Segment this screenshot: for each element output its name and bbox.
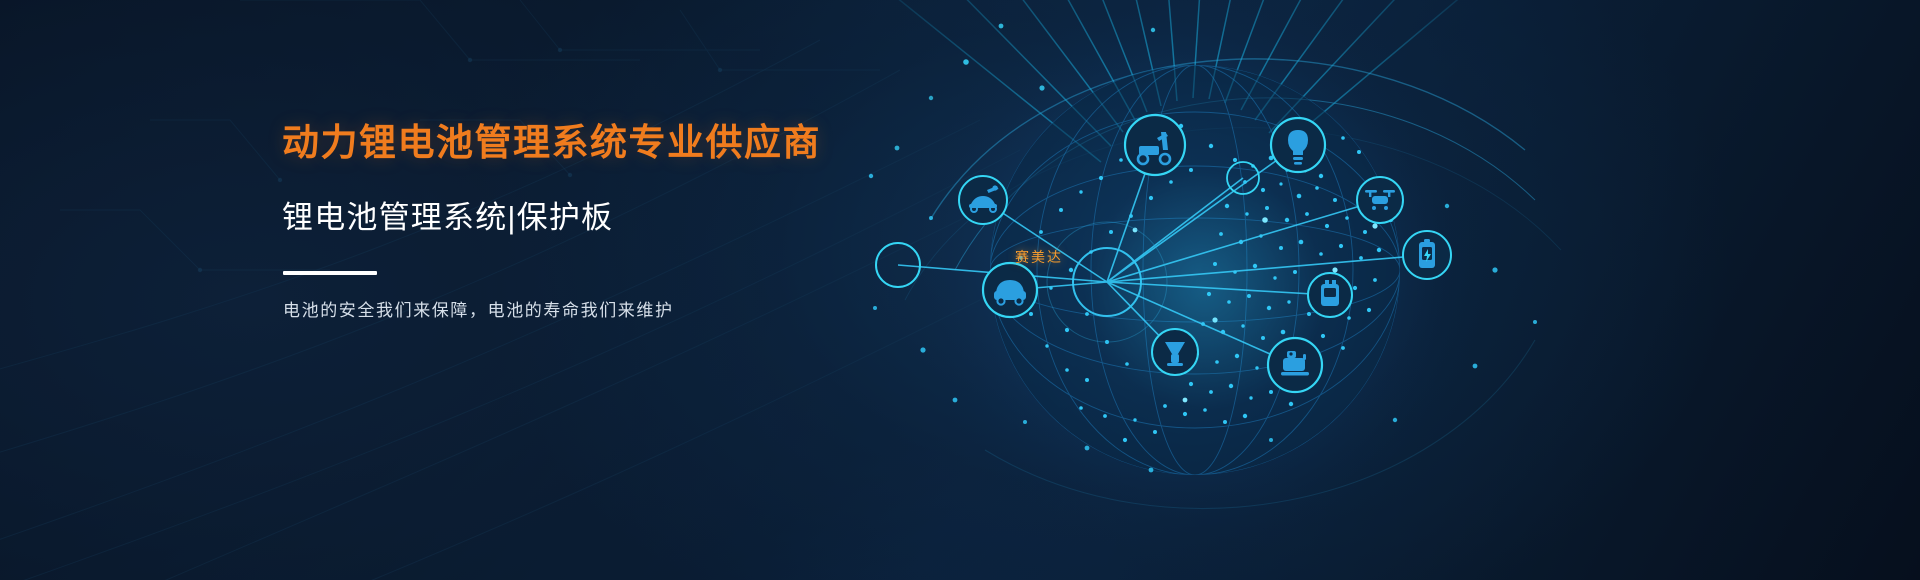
powerbank-node [1308,273,1352,317]
tagline: 电池的安全我们来保障，电池的寿命我们来维护 [283,299,902,323]
scooter-node [1125,115,1185,175]
subtitle: 锂电池管理系统|保护板 [282,201,902,235]
scanner-node [1152,329,1198,375]
divider-rule [283,271,377,275]
hero-copy: 动力锂电池管理系统专业供应商 锂电池管理系统|保护板 电池的安全我们来保障，电池… [282,122,902,322]
battery-icon [1419,239,1435,268]
bulb-node [1271,118,1325,172]
drone-node [1357,177,1403,223]
robot-node [1268,338,1322,392]
hero-banner: 赛美达 动力锂电池管理系统专业供应商 锂电池管理系统|保护板 电池的安全我们来保… [0,0,1920,580]
network-globe-graphic [835,0,1575,580]
headline: 动力锂电池管理系统专业供应商 [282,122,902,163]
car-node [983,263,1037,317]
ebike-node [959,176,1007,224]
battery-node [1403,231,1451,279]
